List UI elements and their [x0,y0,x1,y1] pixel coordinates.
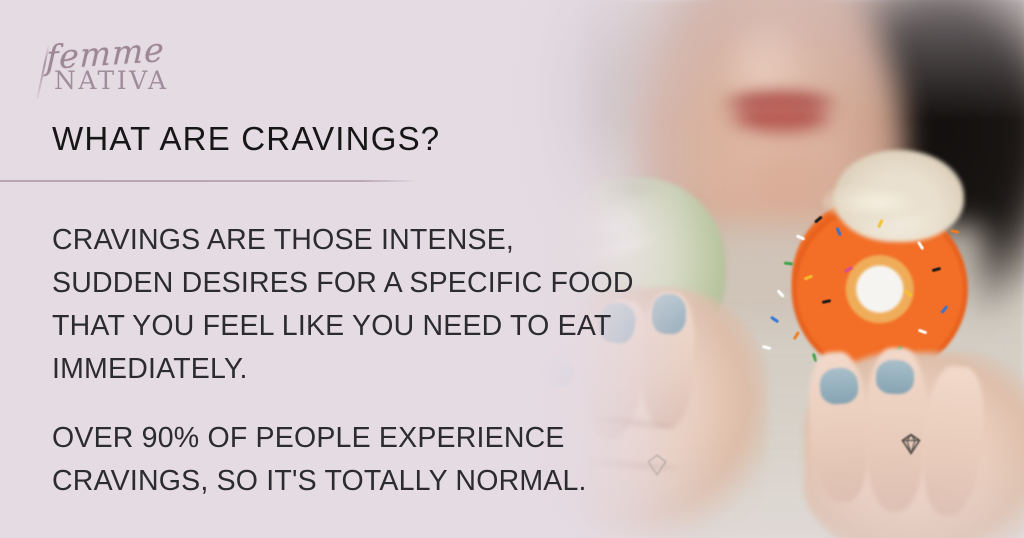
paragraph-line: CRAVINGS, SO IT'S TOTALLY NORMAL. [52,460,672,503]
paragraph-line: IMMEDIATELY. [52,348,672,391]
paragraph-2: OVER 90% OF PEOPLE EXPERIENCE CRAVINGS, … [52,417,672,503]
donut-dough-crumb [822,182,932,222]
right-middle-nail [875,359,914,394]
paragraph-line: SUDDEN DESIRES FOR A SPECIFIC FOOD [52,262,672,305]
paragraph-1: CRAVINGS ARE THOSE INTENSE, SUDDEN DESIR… [52,219,672,391]
right-index-nail [819,367,859,406]
body-copy: CRAVINGS ARE THOSE INTENSE, SUDDEN DESIR… [52,219,672,503]
logo-wordmark-text: NATIVA [54,66,169,95]
paragraph-line: CRAVINGS ARE THOSE INTENSE, [52,219,672,262]
title-divider [0,180,420,182]
paragraph-line: THAT YOU FEEL LIKE YOU NEED TO EAT [52,305,672,348]
page-title: WHAT ARE CRAVINGS? [52,120,440,158]
paragraph-line: OVER 90% OF PEOPLE EXPERIENCE [52,417,672,460]
brand-logo: femme NATIVA [40,36,220,102]
graphic-canvas: femme NATIVA WHAT ARE CRAVINGS? CRAVINGS… [0,0,1024,538]
